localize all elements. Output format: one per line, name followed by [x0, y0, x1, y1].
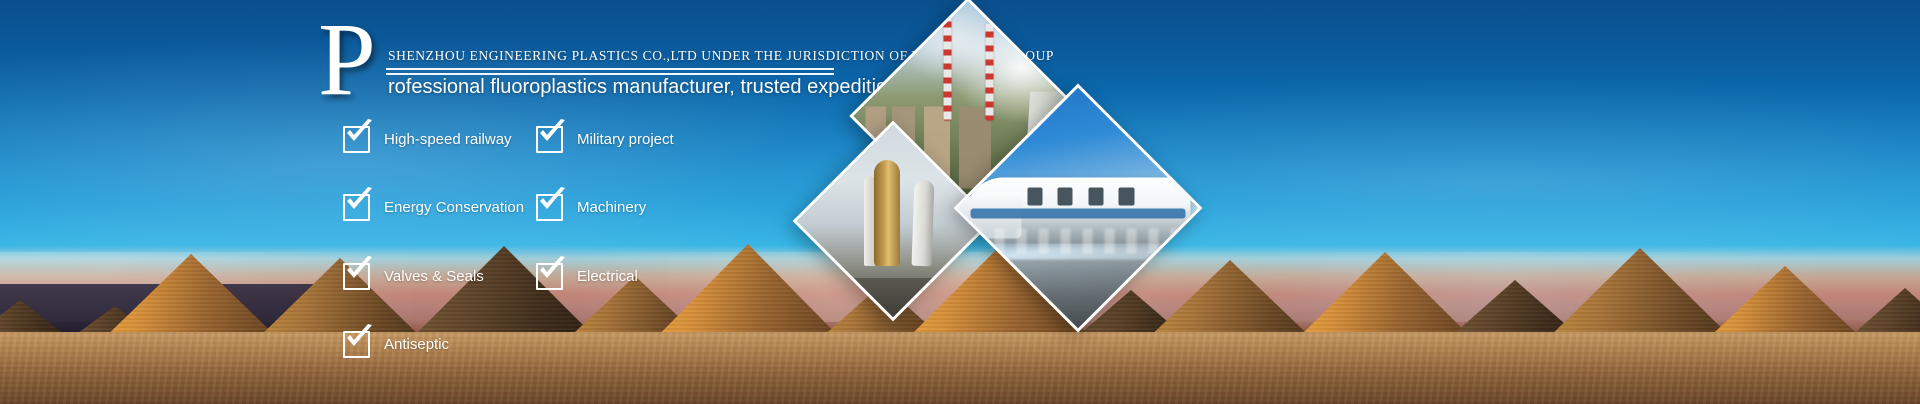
checkbox[interactable] [536, 194, 563, 221]
desert-ground [0, 332, 1920, 404]
train-window [1088, 188, 1103, 206]
feature-label: Valves & Seals [384, 268, 484, 285]
feature-column-right: Military project Machinery Electrica [536, 122, 674, 293]
spacer [343, 156, 524, 191]
feature-item-military-project[interactable]: Military project [536, 122, 674, 156]
train-window [1058, 188, 1073, 206]
train-window [1119, 188, 1134, 206]
feature-item-electrical[interactable]: Electrical [536, 259, 674, 293]
feature-item-energy-conservation[interactable]: Energy Conservation [343, 191, 524, 225]
spacer [343, 225, 524, 260]
feature-label: High-speed railway [384, 131, 512, 148]
smokestack [985, 24, 993, 121]
check-icon [344, 324, 374, 352]
divider-rule-bottom [386, 73, 834, 75]
checkbox[interactable] [536, 126, 563, 153]
checkbox[interactable] [343, 194, 370, 221]
spacer [536, 156, 674, 191]
checkbox[interactable] [343, 126, 370, 153]
check-icon [537, 187, 567, 215]
logo-letter-p: P [318, 8, 374, 112]
pyramid [648, 244, 848, 346]
external-tank [874, 160, 900, 266]
divider-rules [386, 68, 834, 75]
check-icon [344, 256, 374, 284]
feature-column-left: High-speed railway Energy Conservation [343, 122, 524, 362]
train-stripe [971, 208, 1185, 218]
spacer [536, 225, 674, 260]
feature-label: Electrical [577, 268, 638, 285]
smokestack [944, 14, 952, 121]
feature-item-high-speed-railway[interactable]: High-speed railway [343, 122, 524, 156]
check-icon [537, 119, 567, 147]
check-icon [537, 256, 567, 284]
checkbox[interactable] [536, 263, 563, 290]
train-window [1027, 188, 1042, 206]
feature-label: Antiseptic [384, 336, 449, 353]
feature-item-machinery[interactable]: Machinery [536, 191, 674, 225]
check-icon [344, 119, 374, 147]
divider-rule-top [386, 68, 834, 70]
check-icon [344, 187, 374, 215]
orbiter [912, 180, 935, 266]
feature-label: Military project [577, 131, 674, 148]
checkbox[interactable] [343, 331, 370, 358]
spacer [343, 293, 524, 328]
speed-lines [954, 228, 1203, 254]
checkbox[interactable] [343, 263, 370, 290]
feature-label: Energy Conservation [384, 199, 524, 216]
feature-label: Machinery [577, 199, 646, 216]
hero-banner: P SHENZHOU ENGINEERING PLASTICS CO.,LTD … [0, 0, 1920, 404]
feature-item-valves-and-seals[interactable]: Valves & Seals [343, 259, 524, 293]
feature-item-antiseptic[interactable]: Antiseptic [343, 328, 524, 362]
